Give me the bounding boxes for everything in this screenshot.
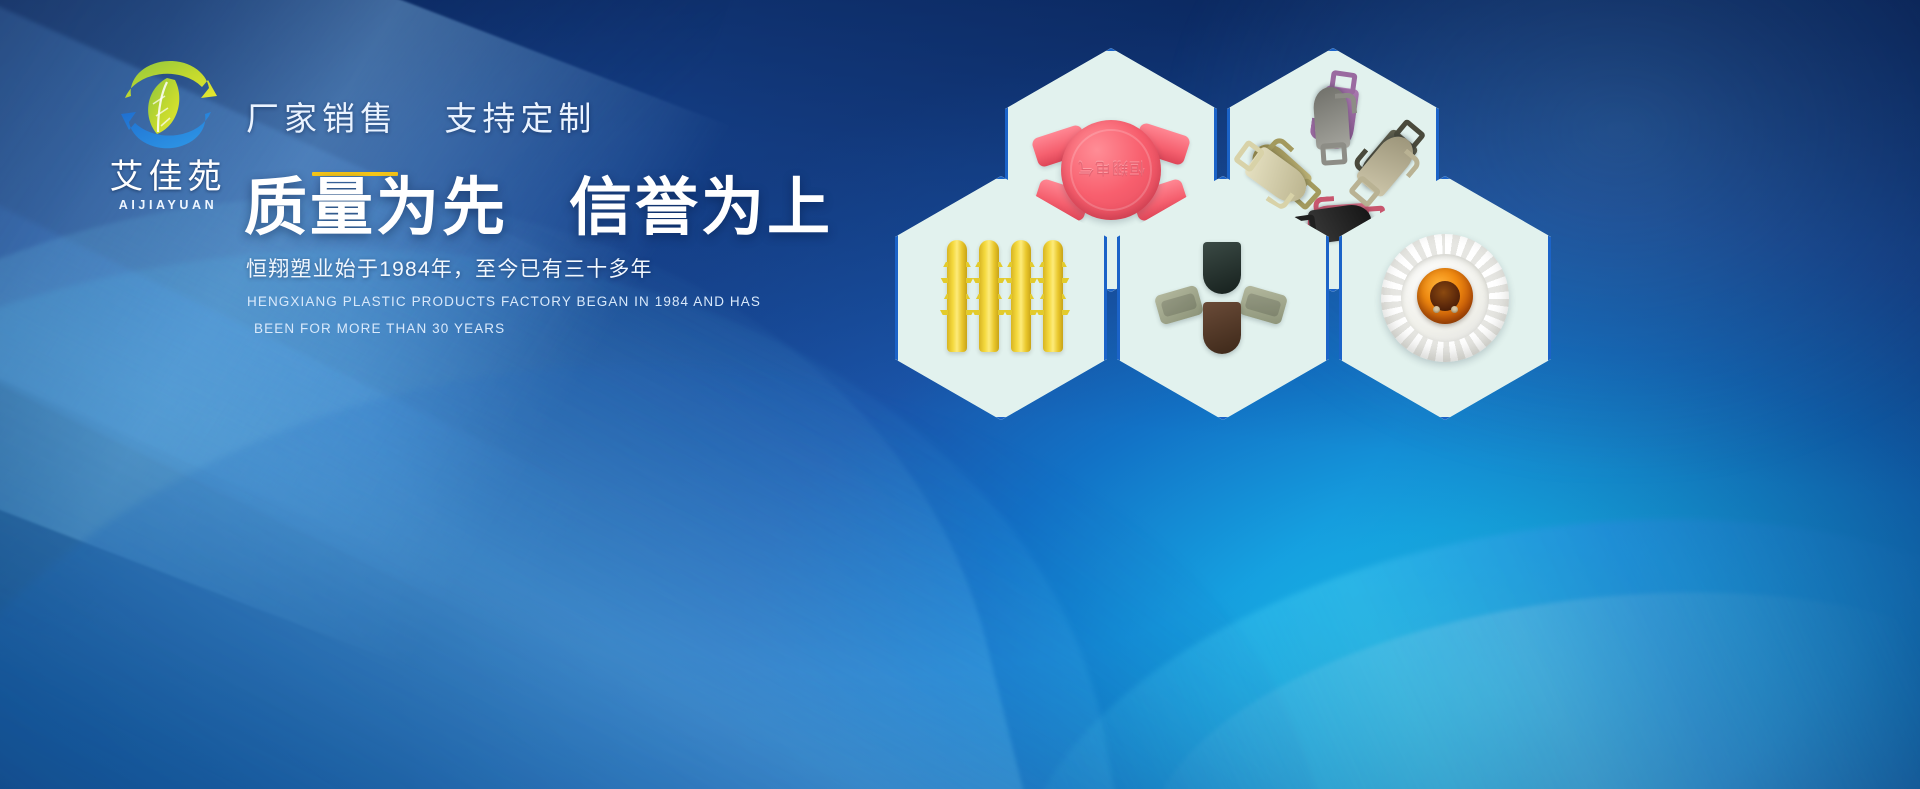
promo-banner: 艾佳苑 AIJIAYUAN 厂家销售 支持定制 质量为先 信誉为上 恒翔塑业始于… [0,0,1920,789]
tagline: 厂家销售 支持定制 [246,92,596,140]
subtitle-en-line-2: BEEN FOR MORE THAN 30 YEARS [247,315,761,342]
product-hexagon-collage: 恒翔电气 [1005,48,1525,378]
junction-box-emboss-text: 恒翔电气 [1077,158,1145,182]
tagline-part-2: 支持定制 [444,100,596,137]
leaf-swoosh-logo-icon [105,52,231,156]
subtitle-en-line-1: HENGXIANG PLASTIC PRODUCTS FACTORY BEGAN… [247,294,761,309]
headline-part-2: 信誉为上 [569,173,833,243]
company-logo[interactable]: 艾佳苑 AIJIAYUAN [78,52,258,212]
tagline-part-1: 厂家销售 [246,100,398,137]
page-title: 质量为先 信誉为上 [244,172,833,244]
logo-name-cn: 艾佳苑 [78,160,258,196]
logo-name-en: AIJIAYUAN [78,198,258,212]
subtitle-cn: 恒翔塑业始于1984年，至今已有三十多年 [246,253,653,283]
banner-content: 艾佳苑 AIJIAYUAN 厂家销售 支持定制 质量为先 信誉为上 恒翔塑业始于… [0,0,820,789]
subtitle-en: HENGXIANG PLASTIC PRODUCTS FACTORY BEGAN… [247,288,761,342]
headline-part-1: 质量为先 [244,173,508,243]
